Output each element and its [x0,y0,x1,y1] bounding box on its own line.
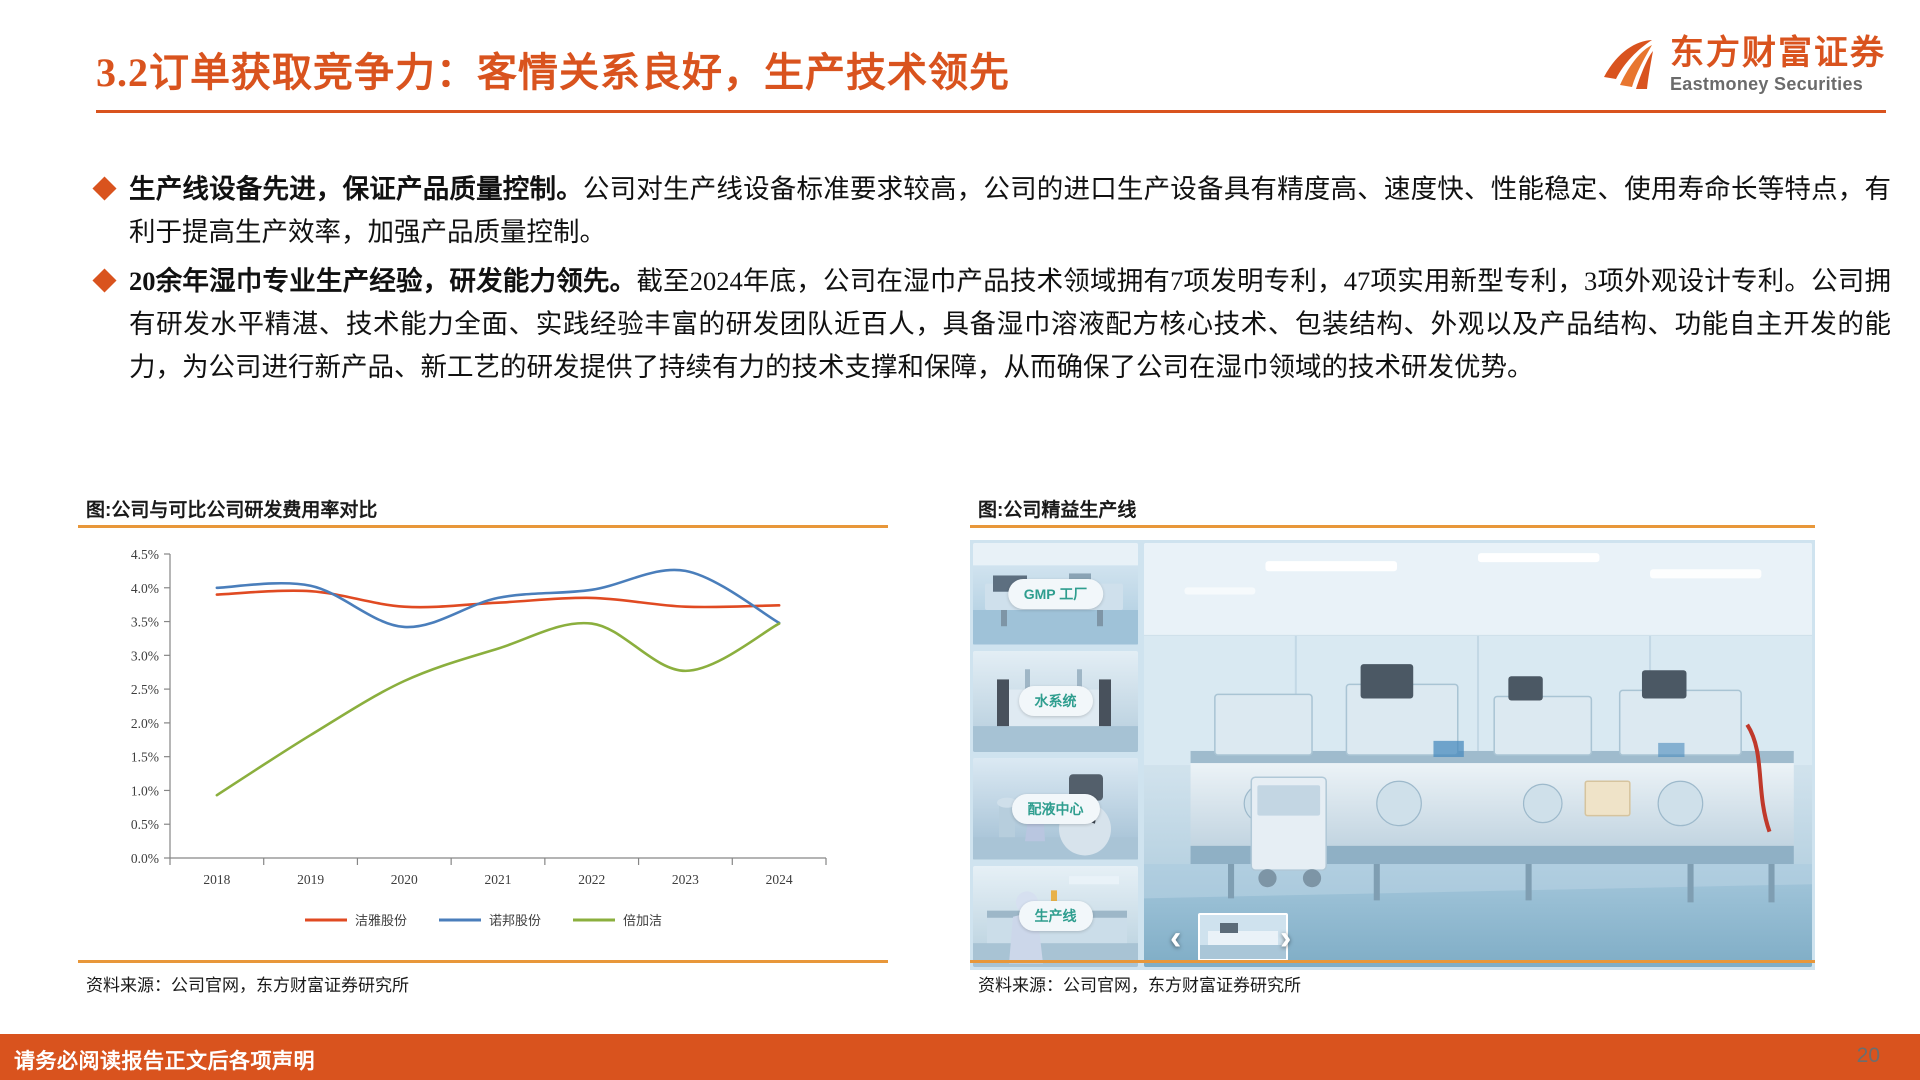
legend-label-倍加洁: 倍加洁 [623,913,662,928]
image-source-note: 资料来源：公司官网，东方财富证券研究所 [978,971,1301,996]
logo-text-cn: 东方财富证券 [1670,36,1886,70]
thumbnail-label: 生产线 [1019,901,1093,931]
footer-disclaimer: 请务必阅读报告正文后各项声明 [14,1045,315,1075]
body-content: 生产线设备先进，保证产品质量控制。公司对生产线设备标准要求较高，公司的进口生产设… [96,168,1891,395]
chart-source-note: 资料来源：公司官网，东方财富证券研究所 [86,971,409,996]
svg-text:1.5%: 1.5% [131,750,159,765]
eastmoney-mark-icon [1600,37,1656,93]
rd-expense-ratio-chart: 0.0%0.5%1.0%1.5%2.0%2.5%3.0%3.5%4.0%4.5%… [78,540,888,960]
thumbnail-liquid-center[interactable]: 配液中心 [973,758,1138,860]
svg-text:2023: 2023 [672,872,699,887]
svg-text:2022: 2022 [578,872,605,887]
next-arrow-icon[interactable]: › [1280,921,1291,955]
image-panel-rule-bottom [970,960,1815,963]
svg-text:4.5%: 4.5% [131,547,159,562]
page-number: 20 [1857,1044,1880,1068]
thumbnail-label: 配液中心 [1012,794,1100,824]
thumbnail-gmp-factory[interactable]: GMP 工厂 [973,543,1138,645]
footer-bar: 请务必阅读报告正文后各项声明 [0,1034,1920,1080]
thumbnail-production-line[interactable]: 生产线 [973,866,1138,968]
bullet-lead: 20余年湿巾专业生产经验，研发能力领先。 [129,266,636,296]
series-line-倍加洁 [217,623,779,795]
svg-text:2024: 2024 [766,872,793,887]
svg-text:2021: 2021 [485,872,512,887]
legend-label-诺邦股份: 诺邦股份 [489,913,541,928]
series-line-诺邦股份 [217,570,779,627]
brand-logo: 东方财富证券 Eastmoney Securities [1600,36,1886,93]
svg-text:3.5%: 3.5% [131,615,159,630]
bullet-text: 20余年湿巾专业生产经验，研发能力领先。截至2024年底，公司在湿巾产品技术领域… [129,260,1891,389]
chart-panel: 图:公司与可比公司研发费用率对比 0.0%0.5%1.0%1.5%2.0%2.5… [78,495,888,1000]
diamond-bullet-icon [92,176,116,200]
svg-text:2.5%: 2.5% [131,682,159,697]
svg-text:4.0%: 4.0% [131,581,159,596]
header-divider [96,110,1886,113]
chart-panel-rule-bottom [78,960,888,963]
svg-text:2.0%: 2.0% [131,716,159,731]
chart-panel-rule [78,525,888,528]
slide-root: 3.2订单获取竞争力：客情关系良好，生产技术领先 东方财富证券 Eastmone… [0,0,1920,1080]
logo-text-en: Eastmoney Securities [1670,75,1886,93]
svg-text:2019: 2019 [297,872,324,887]
thumbnail-label: 水系统 [1019,686,1093,716]
svg-text:1.0%: 1.0% [131,783,159,798]
chart-svg: 0.0%0.5%1.0%1.5%2.0%2.5%3.0%3.5%4.0%4.5%… [78,540,888,960]
image-panel: 图:公司精益生产线 [970,495,1815,1000]
svg-text:3.0%: 3.0% [131,648,159,663]
thumbnail-preview[interactable] [1198,913,1288,961]
legend-label-洁雅股份: 洁雅股份 [355,913,407,928]
svg-text:2020: 2020 [391,872,418,887]
thumbnail-water-system[interactable]: 水系统 [973,651,1138,753]
image-panel-rule [970,525,1815,528]
page-title: 3.2订单获取竞争力：客情关系良好，生产技术领先 [96,40,1010,98]
thumbnail-column: GMP 工厂 水系统 [970,540,1138,970]
prev-arrow-icon[interactable]: ‹ [1170,921,1181,955]
svg-text:0.5%: 0.5% [131,817,159,832]
bullet-lead: 生产线设备先进，保证产品质量控制。 [129,174,583,204]
thumbnail-label: GMP 工厂 [1008,579,1104,609]
bullet-item: 20余年湿巾专业生产经验，研发能力领先。截至2024年底，公司在湿巾产品技术领域… [96,260,1891,389]
diamond-bullet-icon [92,268,116,292]
image-panel-title: 图:公司精益生产线 [978,495,1136,522]
chart-panel-title: 图:公司与可比公司研发费用率对比 [86,495,377,522]
main-production-photo[interactable]: ‹ › [1144,543,1812,967]
svg-text:2018: 2018 [203,872,230,887]
svg-text:0.0%: 0.0% [131,851,159,866]
bullet-item: 生产线设备先进，保证产品质量控制。公司对生产线设备标准要求较高，公司的进口生产设… [96,168,1891,254]
bullet-text: 生产线设备先进，保证产品质量控制。公司对生产线设备标准要求较高，公司的进口生产设… [129,168,1891,254]
production-line-photo: GMP 工厂 水系统 [970,540,1815,970]
